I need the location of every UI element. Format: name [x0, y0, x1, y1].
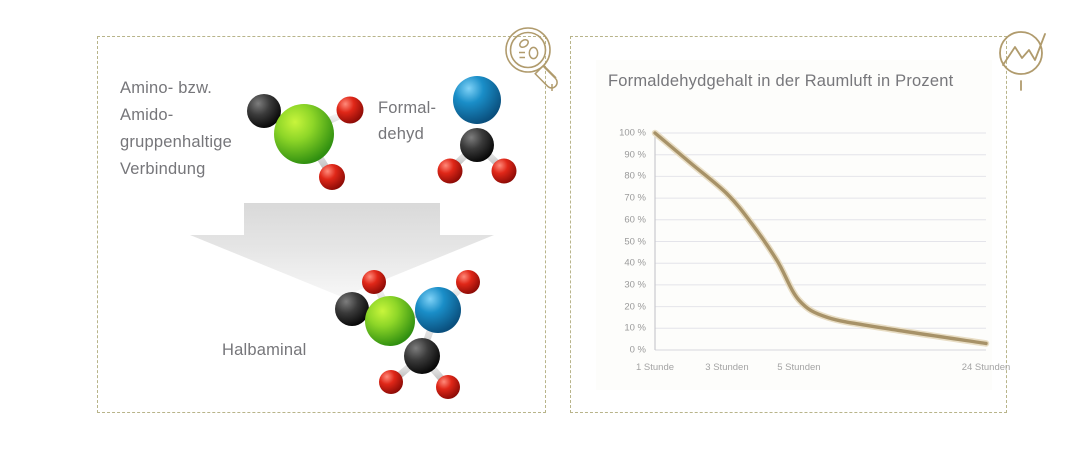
formaldehyde-molecule	[432, 68, 524, 192]
x-axis-ticks: 1 Stunde3 Stunden5 Stunden24 Stunden	[596, 60, 992, 390]
chart-plot: 100 %90 %80 %70 %60 %50 %40 %30 %20 %10 …	[596, 60, 992, 390]
halbaminal-molecule	[328, 268, 488, 404]
x-tick-label: 24 Stunden	[962, 362, 1011, 373]
screenshot-root: Amino- bzw. Amido- gruppenhaltige Verbin…	[0, 0, 1080, 462]
amine-molecule	[236, 82, 372, 198]
x-tick-label: 5 Stunden	[777, 362, 820, 373]
x-tick-label: 1 Stunde	[636, 362, 674, 373]
chart: Formaldehydgehalt in der Raumluft in Pro…	[596, 60, 992, 390]
x-tick-label: 3 Stunden	[705, 362, 748, 373]
trend-chart-icon	[988, 21, 1062, 95]
